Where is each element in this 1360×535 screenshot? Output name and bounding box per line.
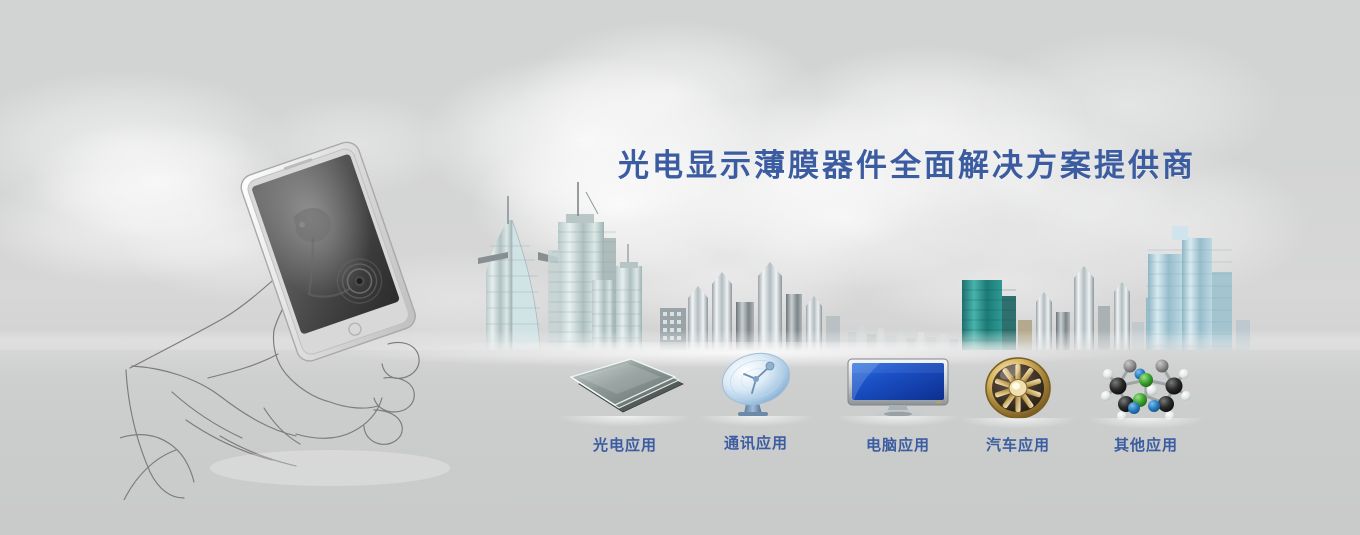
application-label-communication: 通讯应用 [700, 432, 812, 453]
page-title: 光电显示薄膜器件全面解决方案提供商 [618, 140, 1196, 185]
application-item-other[interactable]: 其他应用 [1090, 352, 1202, 455]
application-item-computer[interactable]: 电脑应用 [838, 358, 958, 455]
computer-monitor-icon [838, 358, 958, 424]
building-sail-tower [478, 196, 560, 350]
application-item-communication[interactable]: 通讯应用 [700, 352, 812, 453]
application-label-other: 其他应用 [1090, 434, 1202, 455]
car-wheel-rim-icon [962, 356, 1074, 426]
molecule-model-icon [1090, 352, 1202, 426]
smartphone [238, 139, 419, 365]
application-item-automotive[interactable]: 汽车应用 [962, 356, 1074, 455]
satellite-dish-icon [700, 352, 812, 424]
hand-holding-smartphone-sketch [120, 120, 480, 500]
application-label-computer: 电脑应用 [838, 434, 958, 455]
application-label-automotive: 汽车应用 [962, 434, 1074, 455]
application-item-optoelectronic[interactable]: 光电应用 [560, 358, 690, 455]
glass-film-sheets-icon [560, 358, 690, 424]
application-label-optoelectronic: 光电应用 [560, 434, 690, 455]
hero-banner: 光电显示薄膜器件全面解决方案提供商 [0, 0, 1360, 535]
